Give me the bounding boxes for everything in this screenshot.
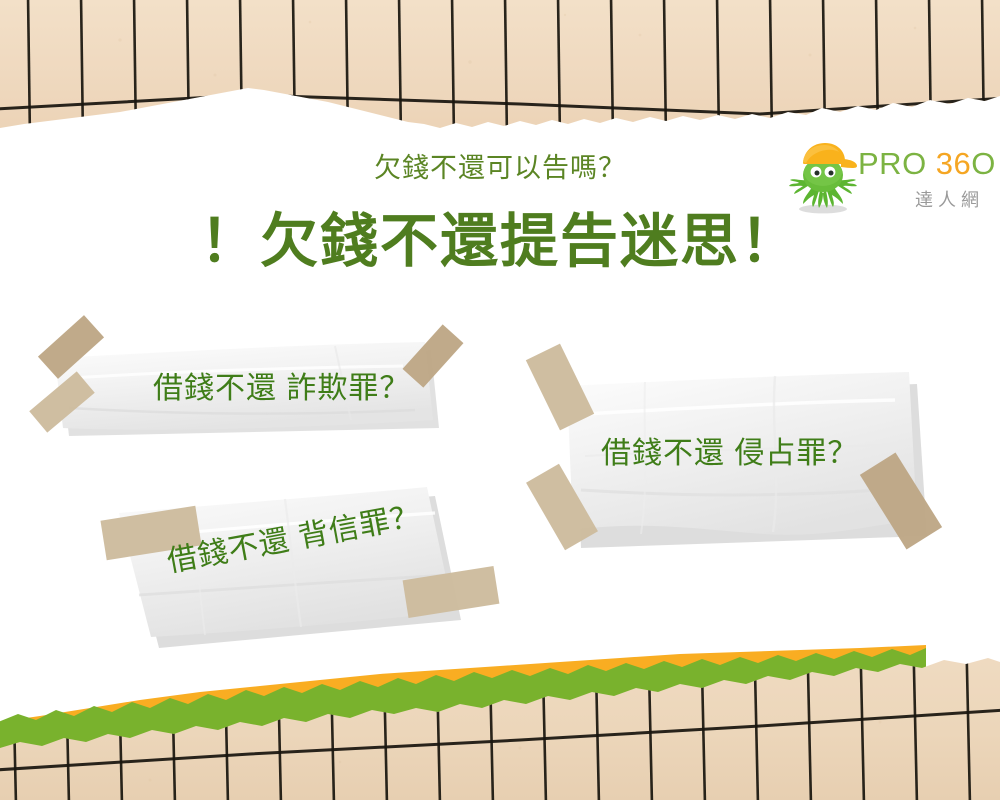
logo-text-o: O	[971, 146, 996, 181]
logo-subtitle-text: 達人網	[858, 186, 986, 212]
logo-brand-text: PRO 36O	[858, 148, 986, 179]
top-band-graphic	[0, 0, 1000, 135]
poster-canvas: 欠錢不還可以告嗎？ ！欠錢不還提告迷思！	[0, 0, 1000, 800]
bottom-green-strip	[0, 648, 926, 772]
top-torn-paper-band	[0, 0, 1000, 135]
note-card-breach[interactable]: 借錢不還 背信罪？	[95, 485, 515, 650]
logo-text-pro: PRO	[858, 146, 936, 181]
note-card-embezzle[interactable]: 借錢不還 侵占罪？	[525, 370, 945, 555]
brand-logo[interactable]: PRO 36O 達人網	[786, 140, 986, 220]
note-paper-breach	[95, 485, 515, 650]
octopus-mascot-icon	[786, 140, 860, 216]
bottom-orange-strip	[0, 645, 926, 800]
note-label-fraud: 借錢不還 詐欺罪？	[153, 363, 410, 407]
logo-wordmark: PRO 36O 達人網	[858, 148, 986, 212]
bottom-band-graphic	[0, 630, 1000, 800]
bottom-torn-paper-band	[0, 630, 1000, 800]
note-label-embezzle: 借錢不還 侵占罪？	[601, 428, 858, 472]
logo-text-36: 36	[936, 146, 971, 181]
header-area: 欠錢不還可以告嗎？ ！欠錢不還提告迷思！	[0, 135, 1000, 315]
note-card-fraud[interactable]: 借錢不還 詐欺罪？	[35, 330, 465, 440]
